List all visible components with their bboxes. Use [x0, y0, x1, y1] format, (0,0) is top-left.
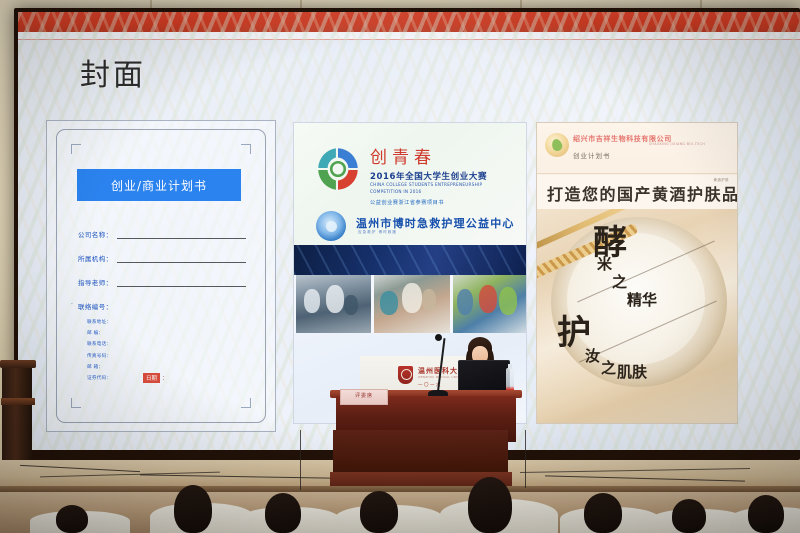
center-divider-band — [294, 245, 526, 275]
list-item: 邮 箱： — [87, 364, 111, 370]
art-char-skin: 肌肤 — [617, 361, 647, 382]
date-field: 日期 ： — [143, 373, 168, 383]
university-crest-icon — [398, 366, 413, 384]
date-value: ： — [162, 374, 168, 382]
audience-head — [56, 505, 88, 533]
list-item: 邮 编： — [87, 330, 111, 336]
field-underline — [117, 279, 247, 287]
art-char-of-2: 之 — [601, 357, 616, 378]
contact-bullet-list: 联系地址： 邮 编： 联系电话： 传真号码： 邮 箱： 证券代码： — [87, 319, 111, 386]
field-label: 公司名称： — [78, 229, 113, 239]
organization-tagline: 应急救护 博时救援 — [358, 230, 397, 235]
organization-name: 温州市博时急救护理公益中心 — [356, 215, 515, 231]
cover-heading-bar: 创业/商业计划书 — [77, 169, 241, 201]
slide-title: 封面 — [80, 50, 146, 94]
field-organization: 所属机构： — [78, 253, 246, 263]
competition-name-en-2: COMPETITION IN 2016 — [370, 189, 421, 194]
list-item: 证券代码： — [87, 375, 111, 381]
side-lectern-shelf — [1, 398, 35, 405]
document-type: 创业计划书 — [573, 150, 611, 160]
field-label: 所属机构： — [78, 253, 113, 263]
field-label: 指导老师： — [78, 277, 113, 287]
side-lectern-top — [0, 360, 36, 368]
slide-band-gap — [18, 32, 800, 39]
audience-head — [360, 491, 398, 533]
list-item: 传真号码： — [87, 353, 111, 359]
product-hero-image: 酵 米 之 精华 护 汝 之 肌肤 — [537, 209, 737, 423]
left-cover-template-panel: 创业/商业计划书 公司名称： 所属机构： 指导老师： · 联络编号： 联系地址：… — [46, 120, 276, 432]
photo-collage — [294, 275, 527, 333]
slide-headline: 打造您的国产黄酒护肤品范友 — [547, 181, 738, 205]
organization-seal-icon — [316, 211, 346, 241]
bullet-marker-icon: · — [71, 301, 73, 308]
company-name-en: SHAOXING JIXIANG BIO-TECH — [649, 142, 705, 146]
screenshot-root: 封面 创业/商业计划书 公司名称： 所属机构： 指导老师： — [0, 0, 800, 533]
header-divider — [537, 173, 737, 174]
competition-name-en-1: CHINA COLLEGE STUDENTS ENTREPRENEURSHIP — [370, 182, 482, 187]
audience-head — [748, 495, 784, 533]
collage-photo-first-aid — [296, 275, 371, 333]
list-item: 联系地址： — [87, 319, 111, 325]
company-leaf-logo-icon — [545, 133, 569, 157]
field-advisor: 指导老师： — [78, 277, 246, 287]
vertical-cable — [525, 430, 528, 488]
list-item: 联系电话： — [87, 341, 111, 347]
chuangqingchun-logo-icon — [312, 143, 364, 195]
name-plate-text: 评委席 — [341, 390, 387, 403]
field-company-name: 公司名称： — [78, 229, 246, 239]
crop-mark-icon — [71, 144, 81, 154]
competition-name: 2016年全国大学生创业大赛 — [370, 170, 487, 182]
art-char-rice: 米 — [597, 253, 612, 274]
microphone-head-icon — [435, 334, 442, 341]
field-underline — [117, 231, 247, 239]
competition-track: 公益创业赛浙江省参赛项目书 — [370, 199, 444, 206]
name-plate: 评委席 — [340, 389, 388, 405]
side-lectern — [2, 364, 32, 464]
collage-photo-community-service — [453, 275, 527, 333]
audience-head — [174, 485, 212, 533]
right-business-plan-panel: 绍兴市吉祥生物科技有限公司 SHAOXING JIXIANG BIO-TECH … — [536, 122, 738, 424]
collage-photo-outdoor-care — [374, 275, 449, 333]
art-char-your: 汝 — [585, 345, 600, 366]
competition-brand: 创青春 — [370, 143, 436, 168]
slide-accent-band — [18, 12, 800, 32]
audience-head — [468, 477, 512, 533]
audience-head — [265, 493, 301, 533]
audience-head — [672, 499, 706, 533]
vertical-cable — [300, 430, 303, 490]
art-char-of-1: 之 — [612, 271, 627, 292]
audience-head — [584, 493, 622, 533]
contact-section-heading: 联络编号： — [78, 301, 113, 311]
field-underline — [117, 255, 247, 263]
art-char-essence: 精华 — [627, 289, 657, 310]
cover-heading-text: 创业/商业计划书 — [111, 177, 207, 194]
crop-mark-icon — [71, 398, 81, 408]
date-label: 日期 — [143, 373, 160, 383]
crop-mark-icon — [241, 144, 251, 154]
crop-mark-icon — [241, 398, 251, 408]
